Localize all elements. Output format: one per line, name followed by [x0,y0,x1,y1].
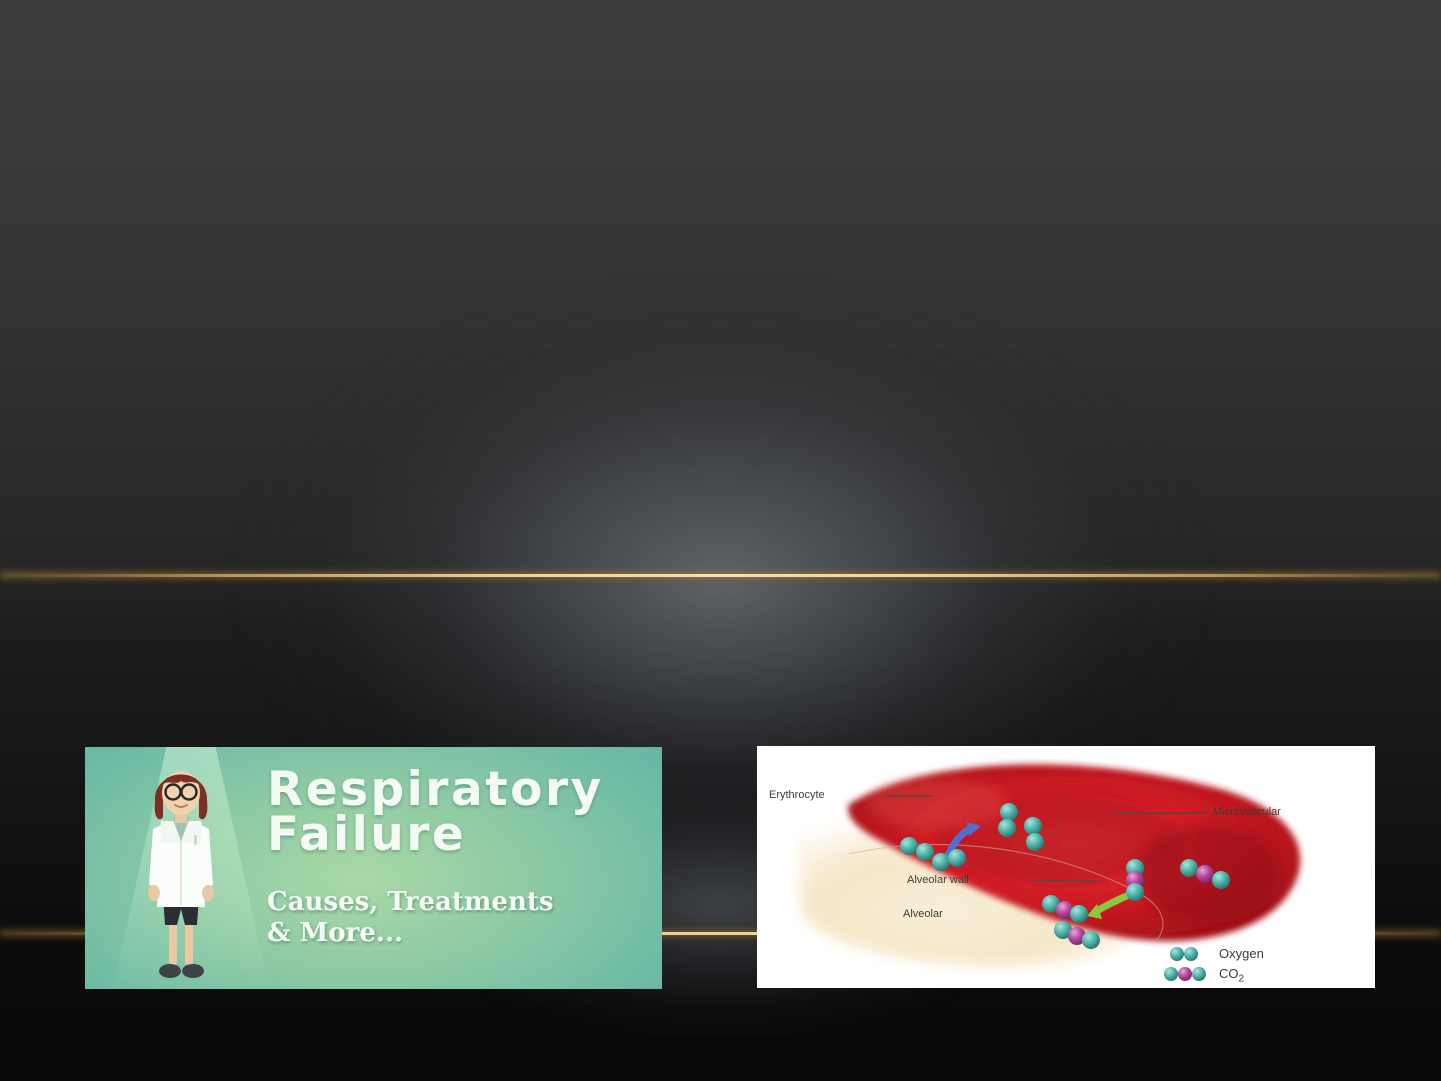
slide-canvas: Respiratory Failure Causes, Treatments &… [0,0,1441,1081]
label-alveolar-wall: Alveolar wall [907,874,969,886]
banner-subtitle-line2: & More... [267,918,554,949]
banner-subtitle: Causes, Treatments & More... [267,887,554,949]
legend-label-co2-prefix: CO [1219,966,1239,981]
legend-label-co2: CO2 [1219,966,1244,985]
gas-exchange-artwork [757,746,1375,988]
banner-title-line1: Respiratory [267,767,604,812]
co2-molecule-at-wall [1126,859,1144,901]
picture-alveolar-gas-exchange[interactable]: Erythrocyte Microvascular Alveolar wall … [757,746,1375,988]
banner-title: Respiratory Failure [267,767,604,857]
legend-label-oxygen: Oxygen [1219,946,1264,961]
cartoon-doctor-illustration [131,759,231,985]
legend-label-co2-subscript: 2 [1239,974,1245,985]
banner-subtitle-line1: Causes, Treatments [267,887,554,918]
label-microvascular: Microvascular [1213,806,1281,818]
legend-swatch-co2 [1164,967,1206,981]
picture-respiratory-failure[interactable]: Respiratory Failure Causes, Treatments &… [85,747,662,989]
label-alveolar: Alveolar [903,908,943,920]
banner-title-line2: Failure [267,812,604,857]
label-erythrocyte: Erythrocyte [769,789,825,801]
